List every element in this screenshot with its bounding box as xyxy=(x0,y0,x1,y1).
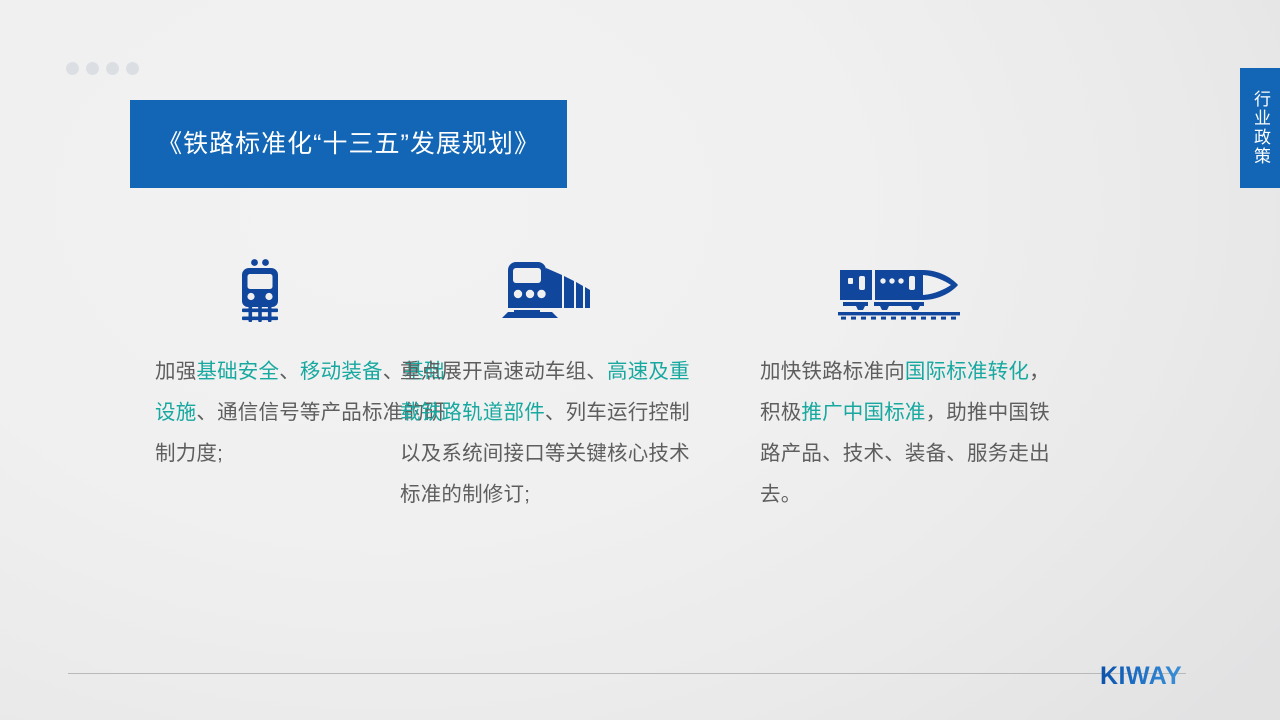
column-body-text: 加快铁路标准向国际标准转化，积极推广中国标准，助推中国铁路产品、技术、装备、服务… xyxy=(760,351,1056,515)
content-column: 加快铁路标准向国际标准转化，积极推广中国标准，助推中国铁路产品、技术、装备、服务… xyxy=(760,252,1280,515)
text-segment: 加强 xyxy=(155,360,196,383)
high-speed-train-icon xyxy=(760,252,1280,322)
brand-logo: KIWAY xyxy=(1100,662,1182,691)
text-segment: 重点展开高速动车组、 xyxy=(400,360,607,383)
section-tab-label: 行业政策 xyxy=(1248,90,1272,166)
train-front-icon xyxy=(155,252,385,322)
content-column: 加强基础安全、移动装备、基础设施、通信信号等产品标准的研制力度; xyxy=(0,252,385,515)
content-columns: 加强基础安全、移动装备、基础设施、通信信号等产品标准的研制力度; xyxy=(0,252,1280,515)
slide-canvas: 《铁路标准化“十三五”发展规划》 行业政策 xyxy=(0,0,1280,720)
highlight-segment: 推广中国标准 xyxy=(801,401,925,424)
decorative-dots xyxy=(66,62,139,75)
highlight-segment: 国际标准转化 xyxy=(905,360,1029,383)
decorative-dot xyxy=(126,62,139,75)
column-body-text: 重点展开高速动车组、高速及重载铁路轨道部件、列车运行控制以及系统间接口等关键核心… xyxy=(400,351,698,515)
highlight-segment: 基础安全 xyxy=(196,360,279,383)
locomotive-icon xyxy=(400,252,760,322)
decorative-dot xyxy=(86,62,99,75)
footer-divider xyxy=(68,673,1186,674)
title-plate: 《铁路标准化“十三五”发展规划》 xyxy=(130,100,567,188)
decorative-dot xyxy=(106,62,119,75)
content-column: 重点展开高速动车组、高速及重载铁路轨道部件、列车运行控制以及系统间接口等关键核心… xyxy=(385,252,760,515)
text-segment: 、 xyxy=(279,360,300,383)
section-tab-industry-policy[interactable]: 行业政策 xyxy=(1240,68,1280,188)
decorative-dot xyxy=(66,62,79,75)
page-title: 《铁路标准化“十三五”发展规划》 xyxy=(157,126,540,163)
text-segment: 加快铁路标准向 xyxy=(760,360,905,383)
highlight-segment: 移动装备 xyxy=(300,360,383,383)
